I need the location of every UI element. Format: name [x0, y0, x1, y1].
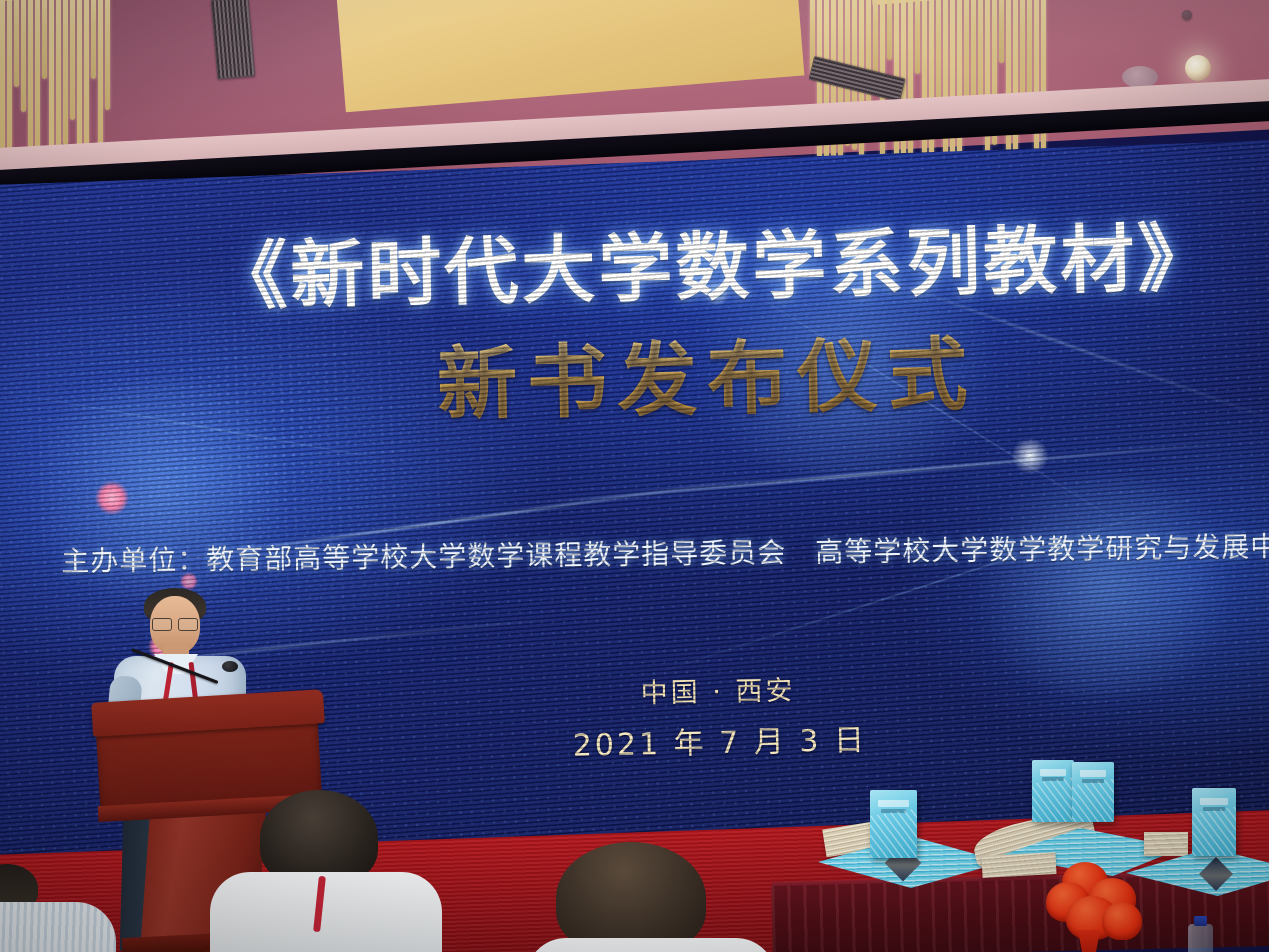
air-vent-icon [211, 0, 256, 80]
event-title-main: 《新时代大学数学系列教材》 [213, 221, 1194, 317]
event-place: 中国 · 西安 [398, 664, 1039, 715]
microphone-icon [222, 661, 238, 672]
event-organizers: 主办单位：教育部高等学校大学数学课程教学指导委员会 高等学校大学数学教学研究与发… [61, 524, 1269, 580]
ceiling-downlight-icon [1182, 10, 1192, 20]
audience-hair [556, 842, 706, 952]
event-date: 2021 年 7 月 3 日 [399, 712, 1040, 768]
audience-shirt [526, 938, 776, 952]
ceiling-spotlight-icon [1185, 55, 1211, 81]
audience-shirt [210, 872, 442, 952]
audience-member-left [0, 876, 160, 952]
audience-member-center [252, 790, 442, 952]
bottle-cap [1194, 916, 1207, 926]
book-page-fan [1144, 832, 1188, 856]
book-cover-standing [1072, 762, 1114, 822]
event-title-sub: 新书发布仪式 [217, 329, 1198, 432]
speaker-glasses [152, 618, 198, 629]
book-cover-standing [1192, 788, 1236, 856]
water-bottle [1188, 916, 1213, 952]
book-cover-standing [1032, 760, 1074, 822]
photo-scene: 《新时代大学数学系列教材》 新书发布仪式 主办单位：教育部高等学校大学数学课程教… [0, 0, 1269, 952]
bottle-body [1188, 924, 1213, 952]
audience-member-right [556, 842, 766, 952]
book-cover-standing [870, 790, 917, 858]
audience-shirt [0, 902, 116, 952]
ribbon-rosette [1044, 858, 1162, 952]
book-display-group [1148, 790, 1269, 886]
